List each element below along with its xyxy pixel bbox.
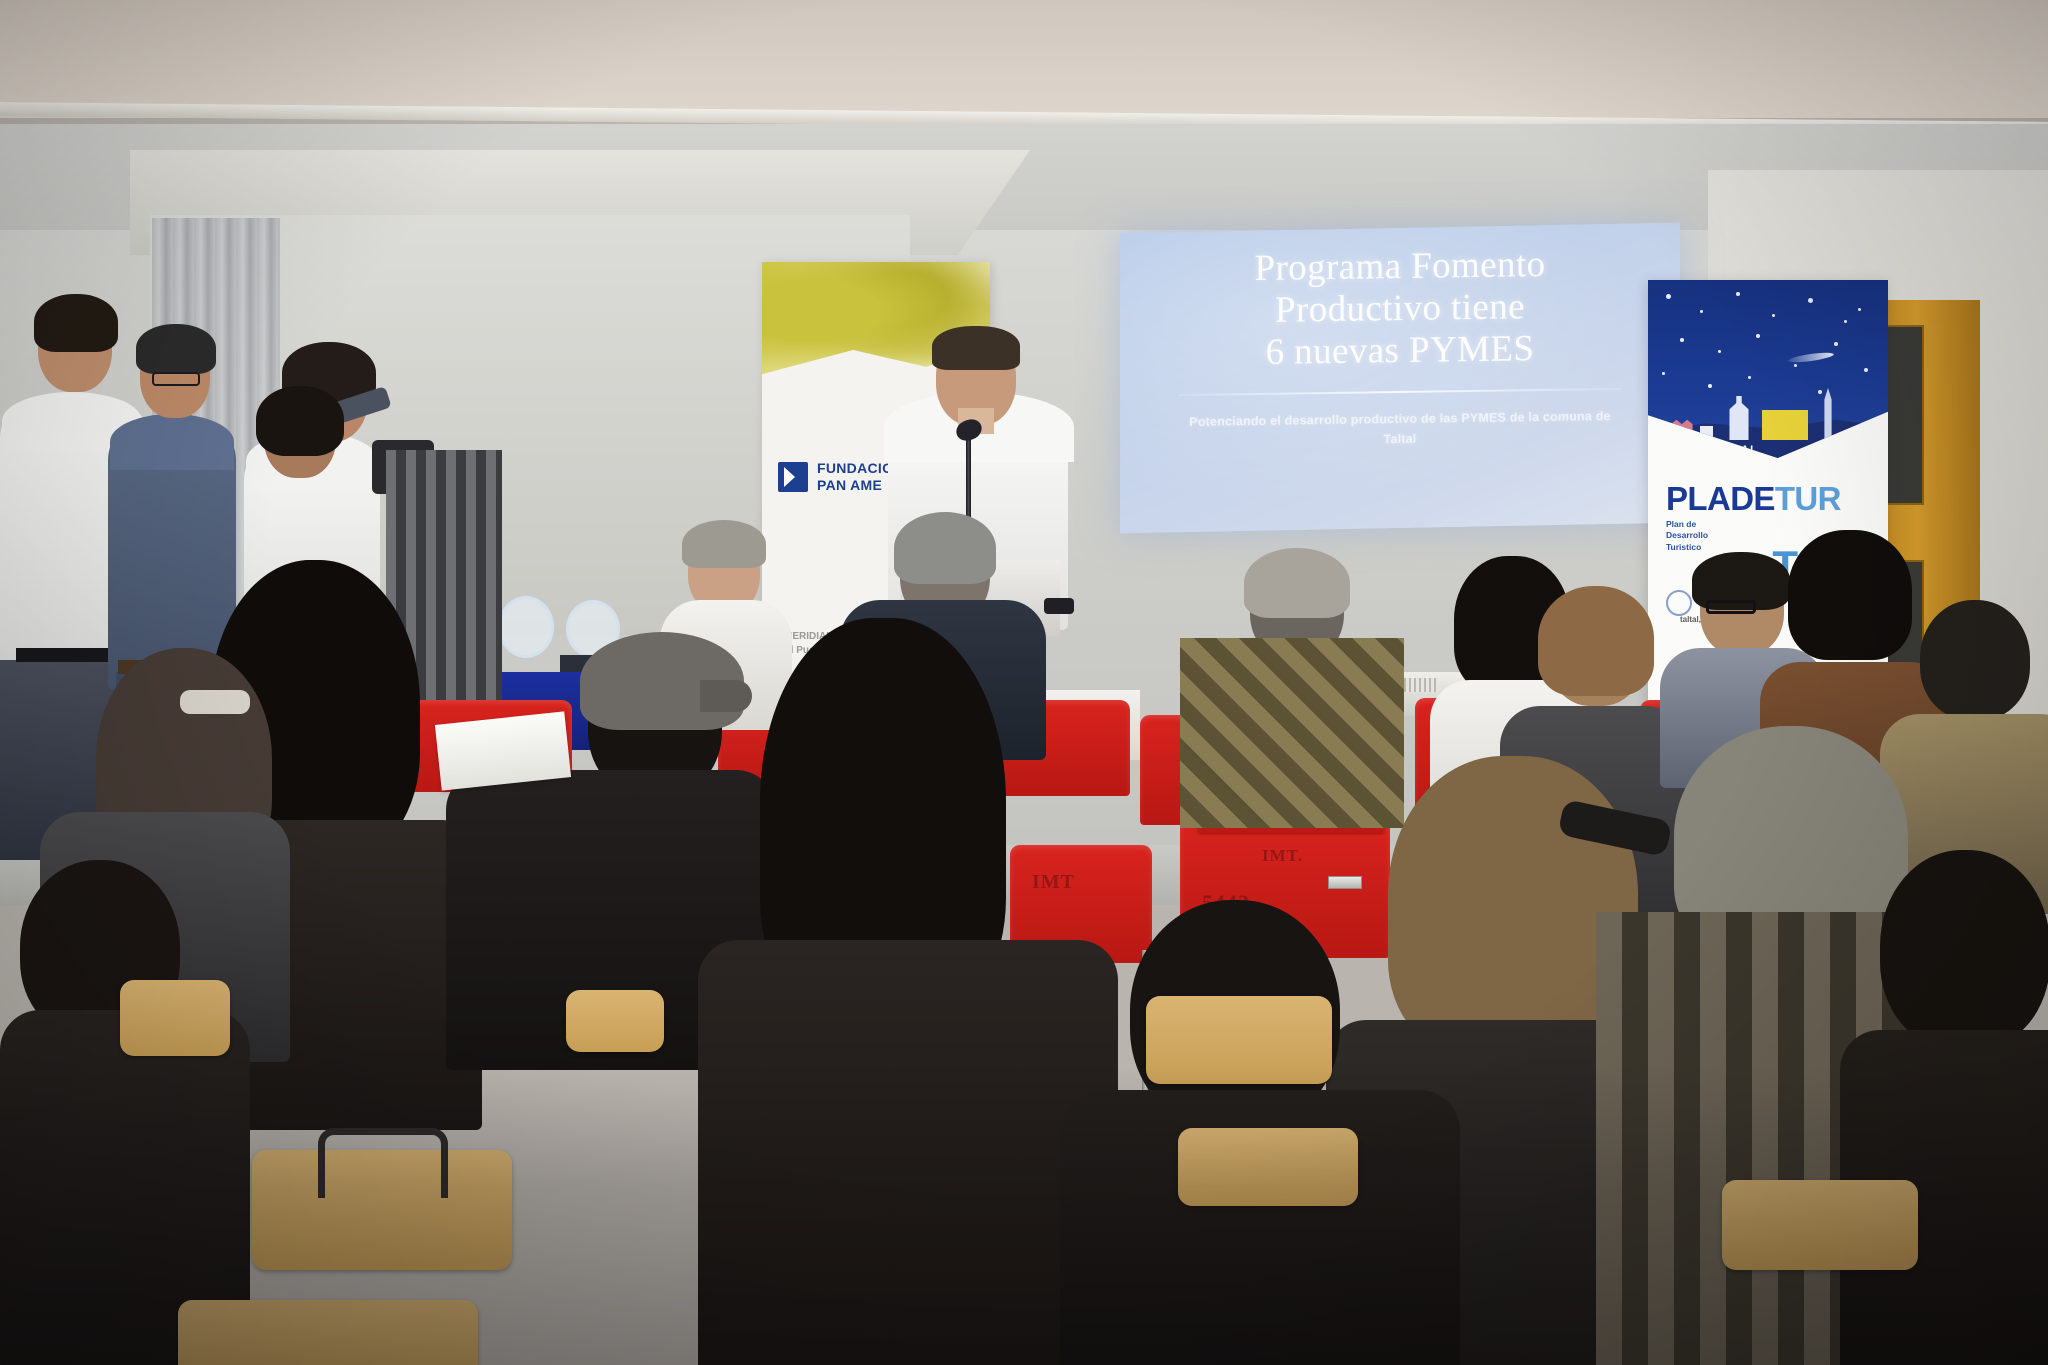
fundacion-logo-icon: [778, 462, 808, 492]
paper-document[interactable]: [435, 711, 571, 790]
slide-divider: [1178, 388, 1622, 396]
pladetur-wordmark: PLADETUR: [1666, 482, 1870, 515]
eyeglasses-icon: [1706, 600, 1756, 614]
illustration-caption: TALTAL: [1710, 444, 1758, 456]
wooden-chair[interactable]: [1178, 1128, 1358, 1206]
slide-title-line-1: Programa Fomento: [1142, 242, 1658, 291]
comet-icon: [1788, 351, 1835, 364]
sunglasses-on-head-icon: [180, 690, 250, 714]
slide-title-line-3: 6 nuevas PYMES: [1142, 326, 1658, 375]
wooden-chair[interactable]: [1146, 996, 1332, 1084]
pladetur-brand-dark: PLADE: [1666, 480, 1775, 517]
yellow-building-icon: [1762, 410, 1808, 440]
pladetur-brand-light: TUR: [1775, 480, 1841, 517]
wooden-chair[interactable]: [1722, 1180, 1918, 1270]
white-building-icon: [1700, 426, 1713, 440]
pladetur-subtitle-line-1: Plan de: [1666, 519, 1870, 530]
chair-inventory-tag: [1328, 876, 1362, 889]
wooden-chair[interactable]: [178, 1300, 478, 1365]
slide-subtitle: Potenciando el desarrollo productivo de …: [1142, 407, 1658, 453]
presentation-photo: Programa Fomento Productivo tiene 6 nuev…: [0, 0, 2048, 1365]
sponsor-logo-icon-1: [1666, 590, 1692, 616]
wooden-chair[interactable]: [120, 980, 230, 1056]
wooden-chair-frame: [318, 1128, 448, 1198]
wooden-chair[interactable]: [566, 990, 664, 1052]
chair-mark-imt: IMT: [1032, 871, 1075, 894]
projection-screen: Programa Fomento Productivo tiene 6 nuev…: [1120, 223, 1680, 534]
slide-title-line-2: Productivo tiene: [1142, 284, 1658, 333]
trophy-1: [498, 596, 554, 658]
ceiling: [0, 0, 2048, 118]
chair-mark-imt: IMT.: [1262, 846, 1303, 866]
night-sky-illustration: TALTAL: [1648, 280, 1888, 458]
